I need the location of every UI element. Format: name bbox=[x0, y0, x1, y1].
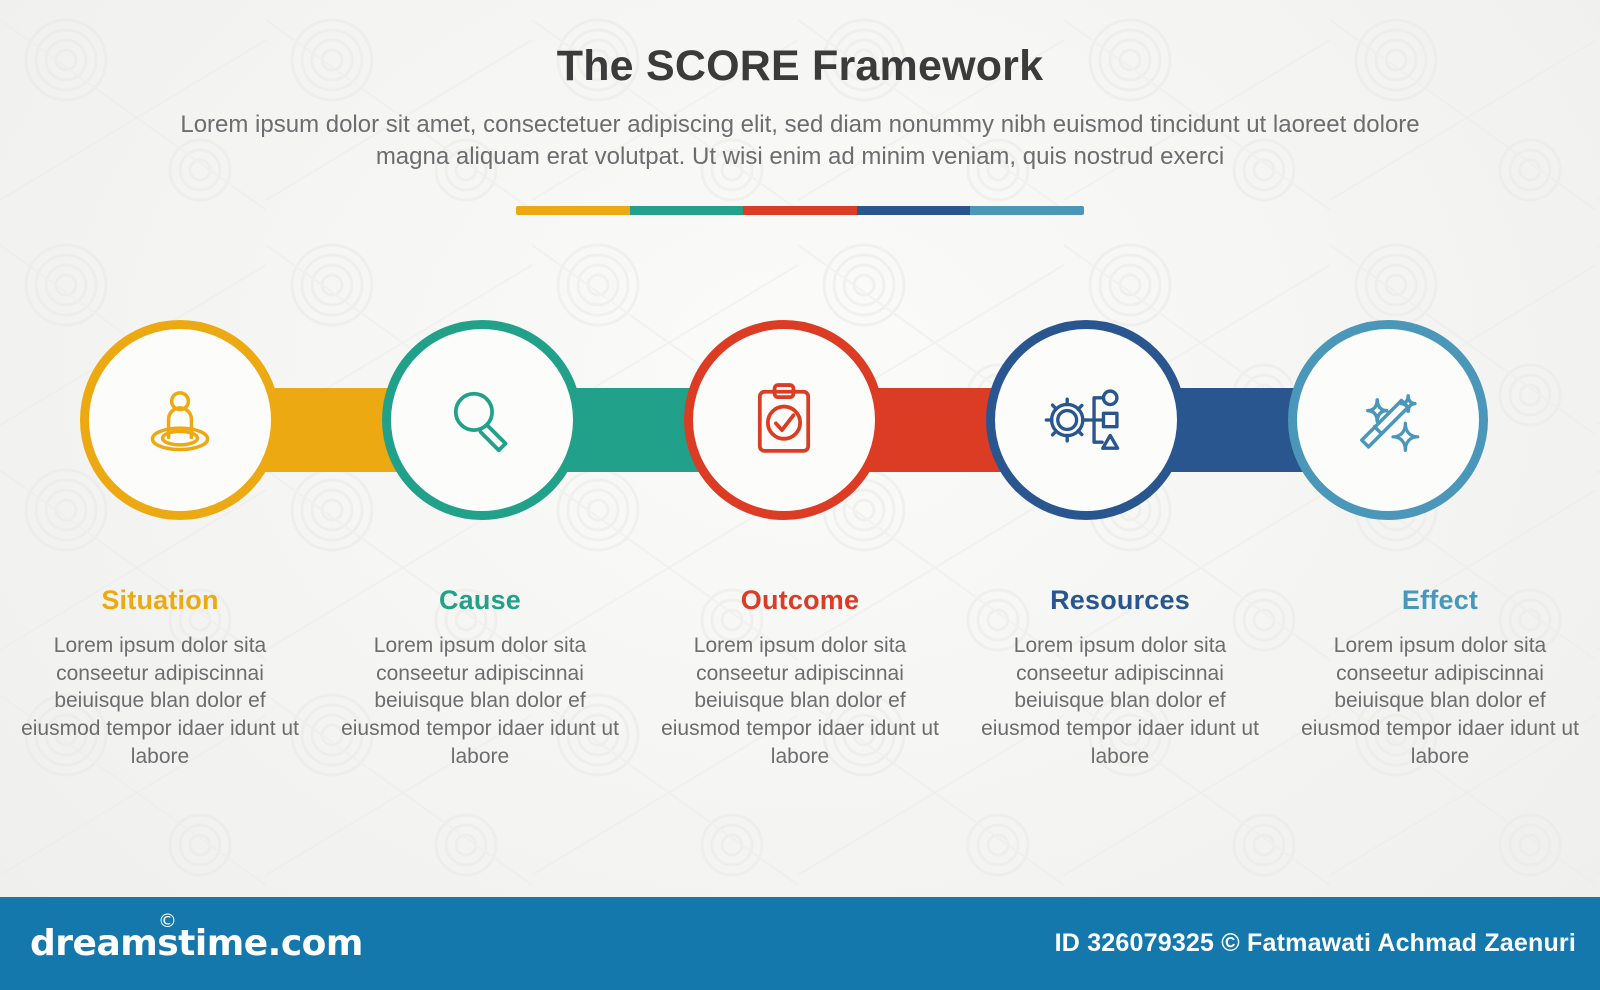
clipboard-check-icon bbox=[741, 377, 827, 463]
column-resources: Resources Lorem ipsum dolor sita conseet… bbox=[960, 585, 1280, 771]
gear-hierarchy-icon bbox=[1043, 377, 1129, 463]
step-descriptions: Situation Lorem ipsum dolor sita conseet… bbox=[0, 585, 1600, 771]
step-body-outcome: Lorem ipsum dolor sita conseetur adipisc… bbox=[654, 632, 946, 771]
step-body-resources: Lorem ipsum dolor sita conseetur adipisc… bbox=[974, 632, 1266, 771]
node-cause[interactable] bbox=[382, 320, 582, 520]
step-title-situation: Situation bbox=[14, 585, 306, 616]
column-cause: Cause Lorem ipsum dolor sita conseetur a… bbox=[320, 585, 640, 771]
step-title-cause: Cause bbox=[334, 585, 626, 616]
divider-segment-3 bbox=[743, 206, 857, 215]
step-body-cause: Lorem ipsum dolor sita conseetur adipisc… bbox=[334, 632, 626, 771]
page-title: The SCORE Framework bbox=[0, 0, 1600, 91]
infographic-canvas: The SCORE Framework Lorem ipsum dolor si… bbox=[0, 0, 1600, 990]
column-outcome: Outcome Lorem ipsum dolor sita conseetur… bbox=[640, 585, 960, 771]
step-body-effect: Lorem ipsum dolor sita conseetur adipisc… bbox=[1294, 632, 1586, 771]
brand-text: dreamstime.com bbox=[30, 923, 363, 964]
registered-mark-icon: © bbox=[158, 910, 177, 932]
node-situation[interactable] bbox=[80, 320, 280, 520]
column-effect: Effect Lorem ipsum dolor sita conseetur … bbox=[1280, 585, 1600, 771]
divider-segment-5 bbox=[970, 206, 1084, 215]
process-flow bbox=[0, 320, 1600, 540]
dreamstime-logo[interactable]: dreamstime.com © bbox=[30, 923, 363, 964]
divider-segment-1 bbox=[516, 206, 630, 215]
magic-wand-sparkle-icon bbox=[1345, 377, 1431, 463]
node-outcome[interactable] bbox=[684, 320, 884, 520]
column-situation: Situation Lorem ipsum dolor sita conseet… bbox=[0, 585, 320, 771]
node-effect[interactable] bbox=[1288, 320, 1488, 520]
footer-bar: dreamstime.com © ID 326079325 © Fatmawat… bbox=[0, 897, 1600, 990]
page-subtitle: Lorem ipsum dolor sit amet, consectetuer… bbox=[150, 109, 1450, 174]
node-circles bbox=[0, 320, 1600, 540]
image-credit: ID 326079325 © Fatmawati Achmad Zaenuri bbox=[1055, 929, 1576, 958]
step-title-effect: Effect bbox=[1294, 585, 1586, 616]
person-location-icon bbox=[137, 377, 223, 463]
divider-segment-4 bbox=[857, 206, 971, 215]
step-title-resources: Resources bbox=[974, 585, 1266, 616]
node-resources[interactable] bbox=[986, 320, 1186, 520]
color-divider-bar bbox=[516, 206, 1084, 215]
divider-segment-2 bbox=[630, 206, 744, 215]
header: The SCORE Framework Lorem ipsum dolor si… bbox=[0, 0, 1600, 174]
magnifier-icon bbox=[439, 377, 525, 463]
step-title-outcome: Outcome bbox=[654, 585, 946, 616]
step-body-situation: Lorem ipsum dolor sita conseetur adipisc… bbox=[14, 632, 306, 771]
